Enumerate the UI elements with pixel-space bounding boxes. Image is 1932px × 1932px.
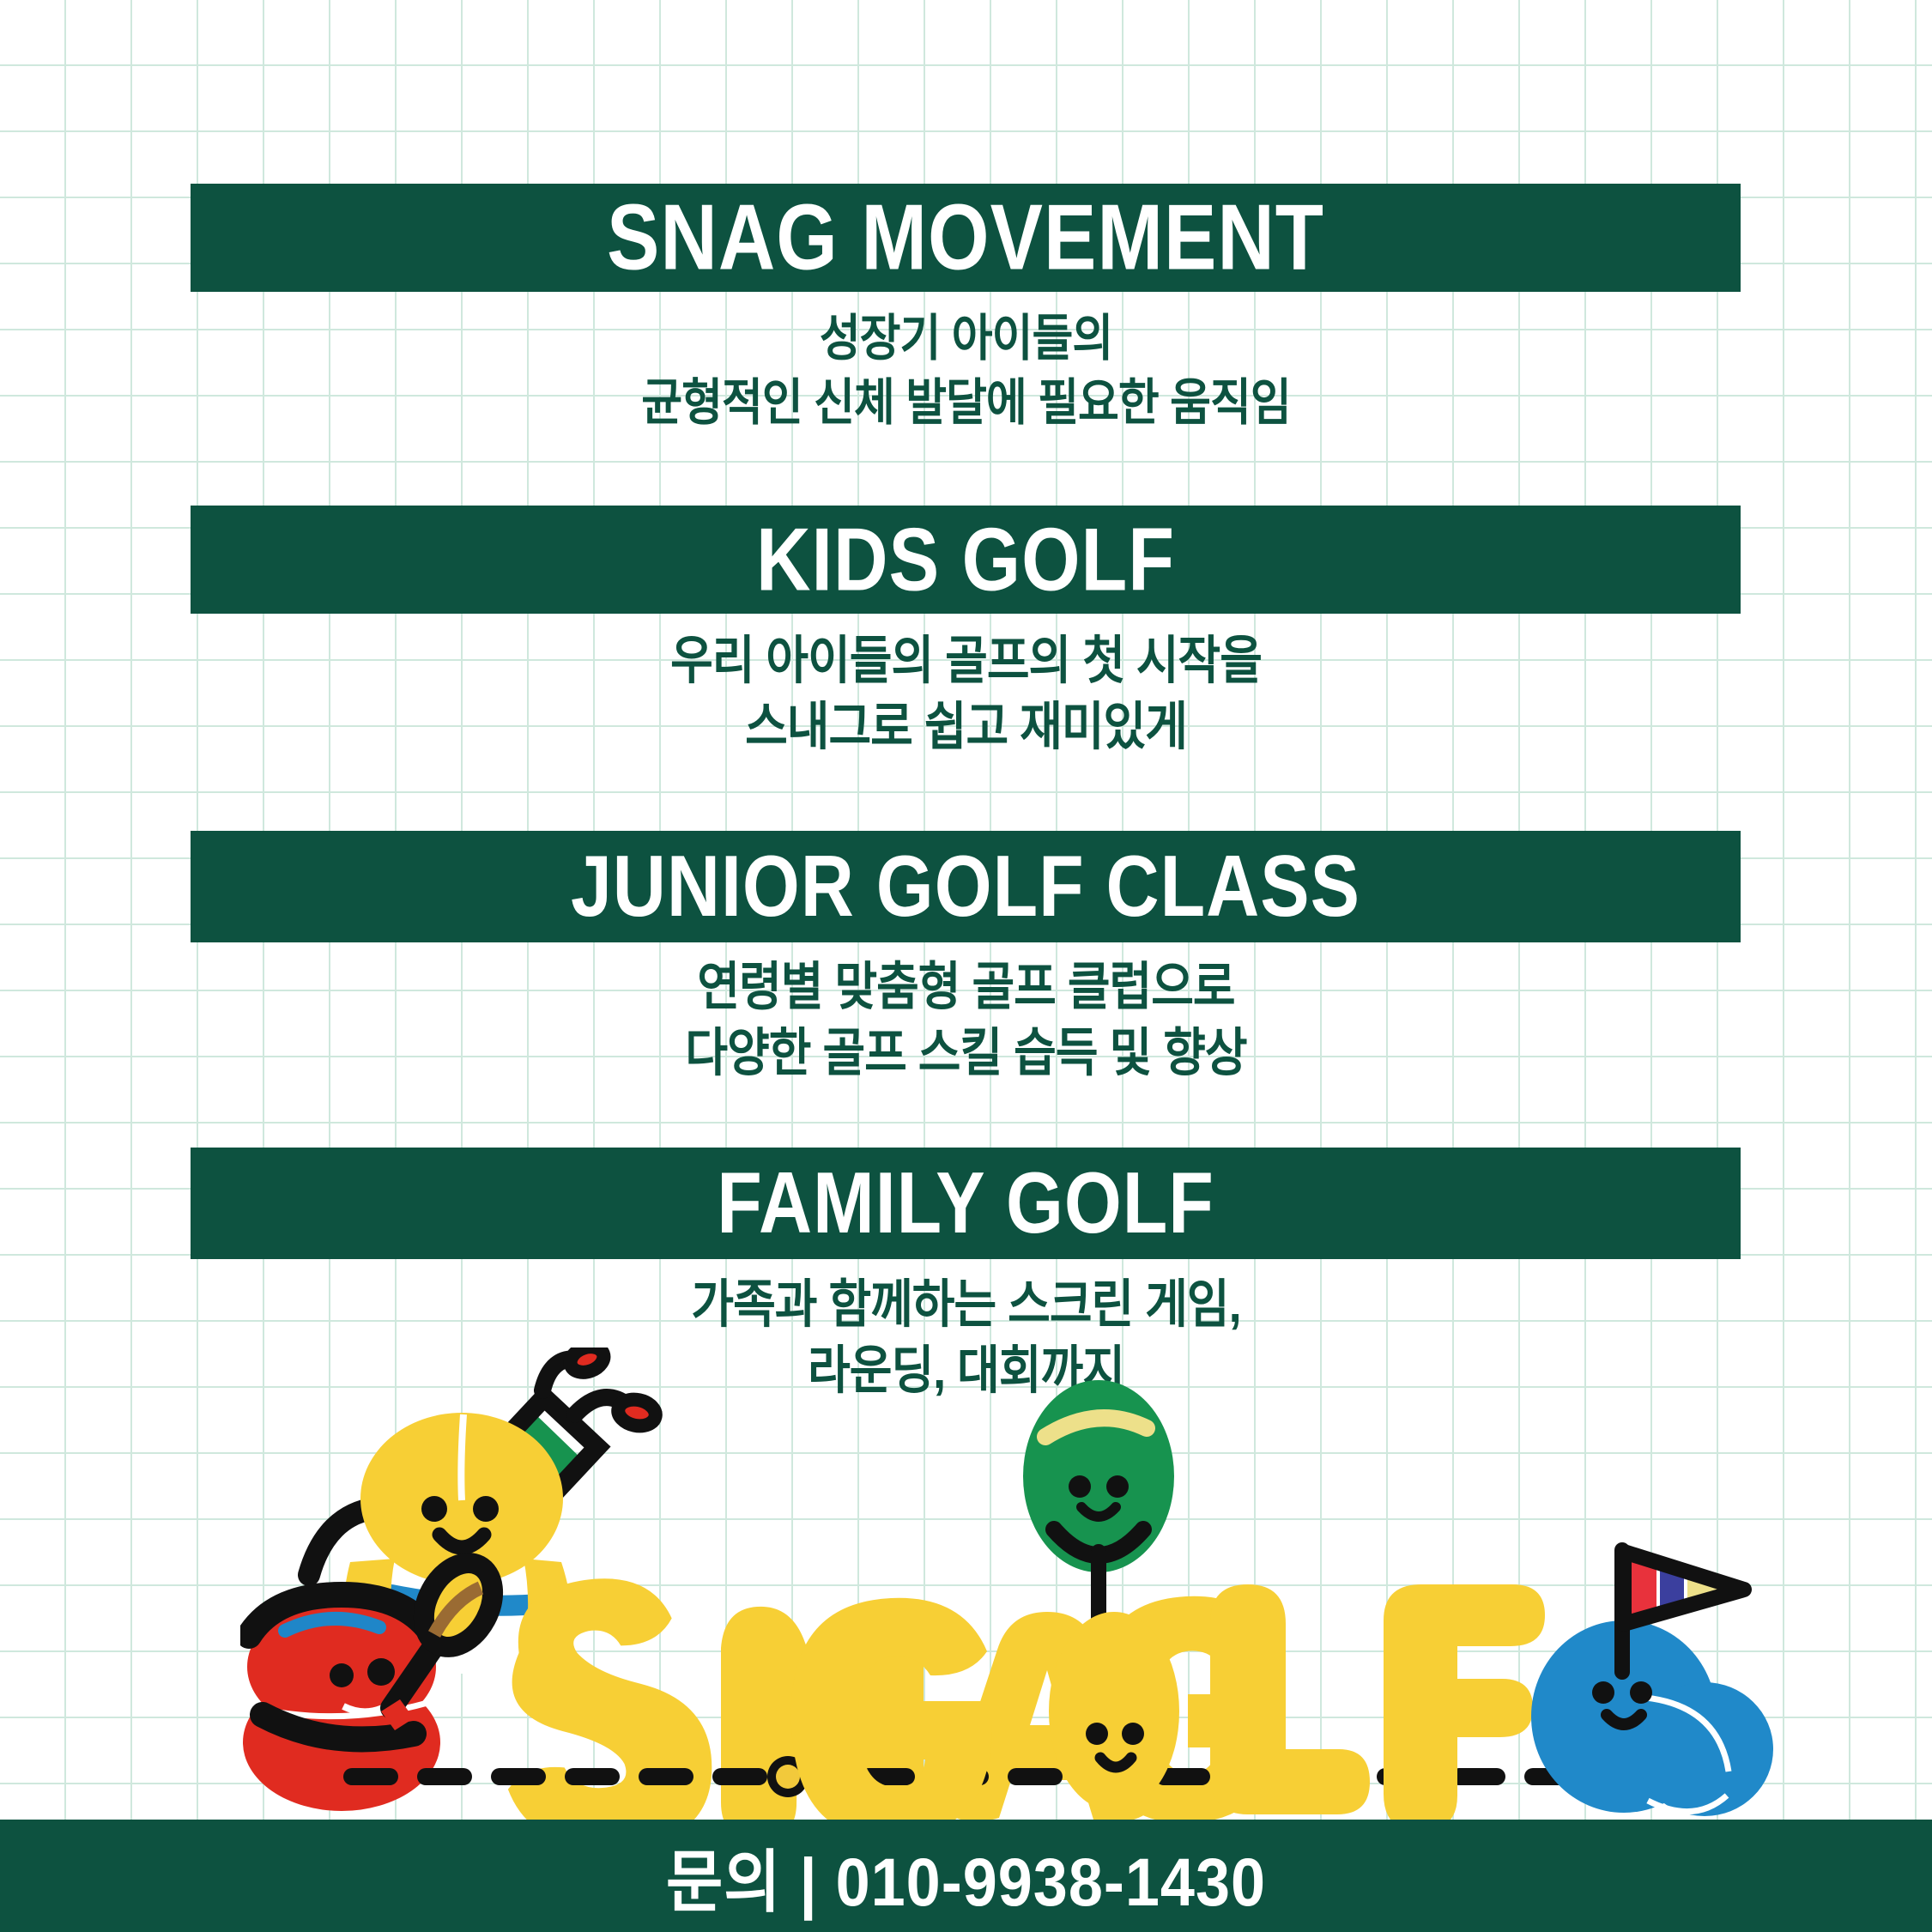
section-heading-bar-junior-golf-class: JUNIOR GOLF CLASS bbox=[191, 831, 1741, 942]
section-subtitle-junior-golf-class: 연령별 맞춤형 골프 클럽으로 다양한 골프 스킬 습득 및 향상 bbox=[0, 954, 1932, 1087]
section-title-junior-golf-class: JUNIOR GOLF CLASS bbox=[571, 843, 1360, 930]
subtitle-line: 균형적인 신체 발달에 필요한 움직임 bbox=[0, 372, 1932, 436]
subtitle-line: 연령별 맞춤형 골프 클럽으로 bbox=[0, 954, 1932, 1021]
logo-svg bbox=[240, 1348, 1785, 1828]
caddie-eye-right bbox=[473, 1496, 499, 1522]
tree-canopy bbox=[1023, 1380, 1174, 1572]
contact-phone-text: 문의 | 010-9938-1430 bbox=[666, 1826, 1266, 1926]
tree-eye-left bbox=[1069, 1475, 1091, 1498]
club-head-a bbox=[566, 1348, 607, 1377]
caddie-eye-left bbox=[421, 1496, 447, 1522]
red-eye-left bbox=[330, 1663, 354, 1687]
section-title-kids-golf: KIDS GOLF bbox=[756, 515, 1175, 604]
blue-character bbox=[1531, 1550, 1773, 1816]
poster-canvas: SNAG MOVEMENT 성장기 아이들의 균형적인 신체 발달에 필요한 움… bbox=[0, 0, 1932, 1932]
caddie-head-highlight bbox=[461, 1414, 463, 1500]
blue-eye-right bbox=[1630, 1681, 1652, 1704]
snag-golf-logo-illustration bbox=[240, 1348, 1785, 1828]
club-head-b bbox=[615, 1396, 657, 1429]
o-eye-left bbox=[1086, 1723, 1108, 1745]
tree-eye-right bbox=[1106, 1475, 1129, 1498]
letter-S bbox=[508, 1578, 712, 1828]
golf-letter-O bbox=[1049, 1612, 1179, 1811]
golf-letter-F bbox=[1384, 1584, 1545, 1828]
red-eye-right bbox=[367, 1658, 395, 1686]
section-heading-bar-snag-movement: SNAG MOVEMENT bbox=[191, 184, 1741, 292]
subtitle-line: 성장기 아이들의 bbox=[0, 307, 1932, 372]
subtitle-line: 스내그로 쉽고 재미있게 bbox=[0, 694, 1932, 760]
section-title-family-golf: FAMILY GOLF bbox=[717, 1160, 1214, 1246]
section-heading-bar-kids-golf: KIDS GOLF bbox=[191, 506, 1741, 614]
blue-eye-left bbox=[1592, 1681, 1614, 1704]
section-title-snag-movement: SNAG MOVEMENT bbox=[607, 191, 1324, 285]
section-subtitle-kids-golf: 우리 아이들의 골프의 첫 시작을 스내그로 쉽고 재미있게 bbox=[0, 628, 1932, 761]
o-eye-right bbox=[1122, 1723, 1144, 1745]
subtitle-line: 다양한 골프 스킬 습득 및 향상 bbox=[0, 1021, 1932, 1087]
subtitle-line: 우리 아이들의 골프의 첫 시작을 bbox=[0, 628, 1932, 694]
section-heading-bar-family-golf: FAMILY GOLF bbox=[191, 1148, 1741, 1259]
golf-letter-L bbox=[1210, 1584, 1370, 1814]
golf-hole-inner bbox=[776, 1765, 800, 1789]
subtitle-line: 가족과 함께하는 스크린 게임, bbox=[0, 1272, 1932, 1338]
contact-footer-bar: 문의 | 010-9938-1430 bbox=[0, 1820, 1932, 1932]
section-subtitle-snag-movement: 성장기 아이들의 균형적인 신체 발달에 필요한 움직임 bbox=[0, 307, 1932, 435]
